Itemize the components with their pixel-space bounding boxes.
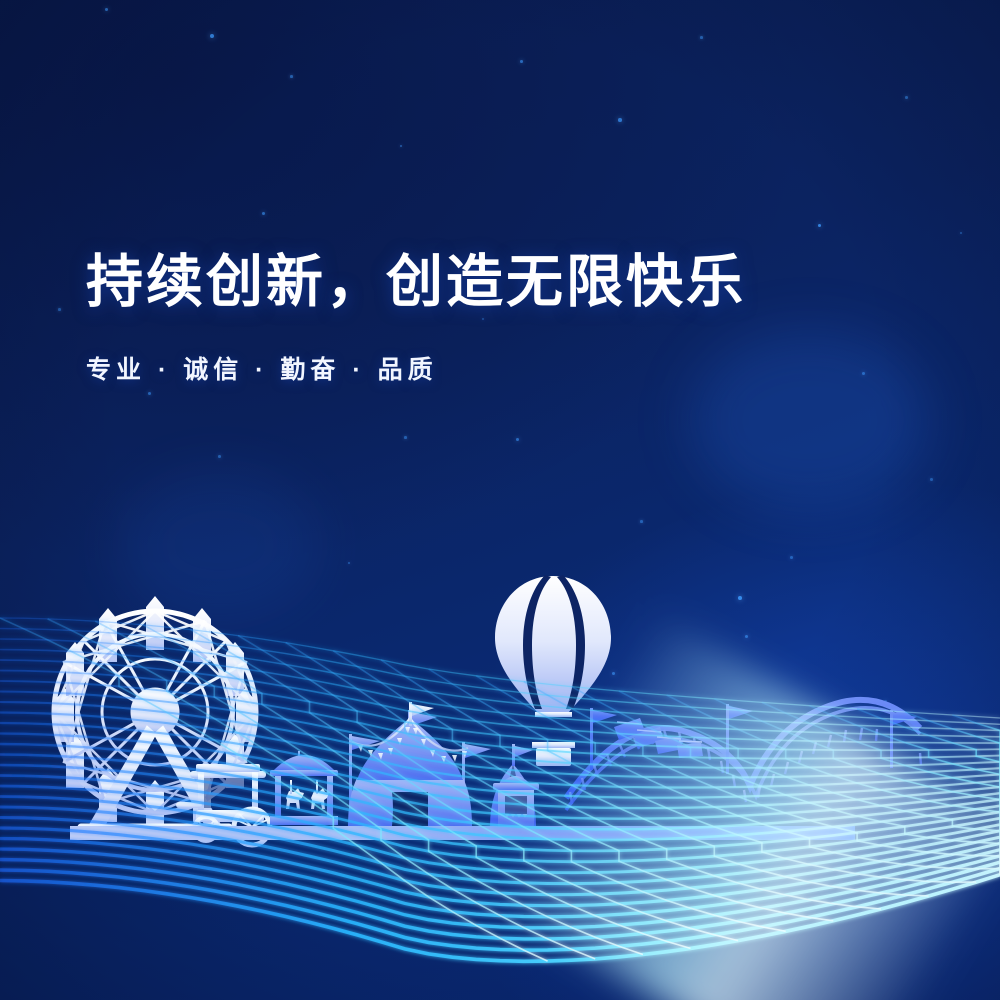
neon-wave-mesh: [0, 600, 1000, 1000]
page-title: 持续创新，创造无限快乐: [86, 252, 946, 314]
page-subtitle: 专业 · 诚信 · 勤奋 · 品质: [86, 350, 946, 386]
wave-mesh-line: [191, 630, 739, 941]
wave-mesh-line: [571, 687, 1000, 875]
wave-mesh-line: [48, 619, 596, 959]
banner-stage: 持续创新，创造无限快乐 专业 · 诚信 · 勤奋 · 品质: [0, 0, 1000, 1000]
wave-line: [0, 723, 1000, 798]
headline-block: 持续创新，创造无限快乐 专业 · 诚信 · 勤奋 · 品质: [86, 252, 946, 386]
